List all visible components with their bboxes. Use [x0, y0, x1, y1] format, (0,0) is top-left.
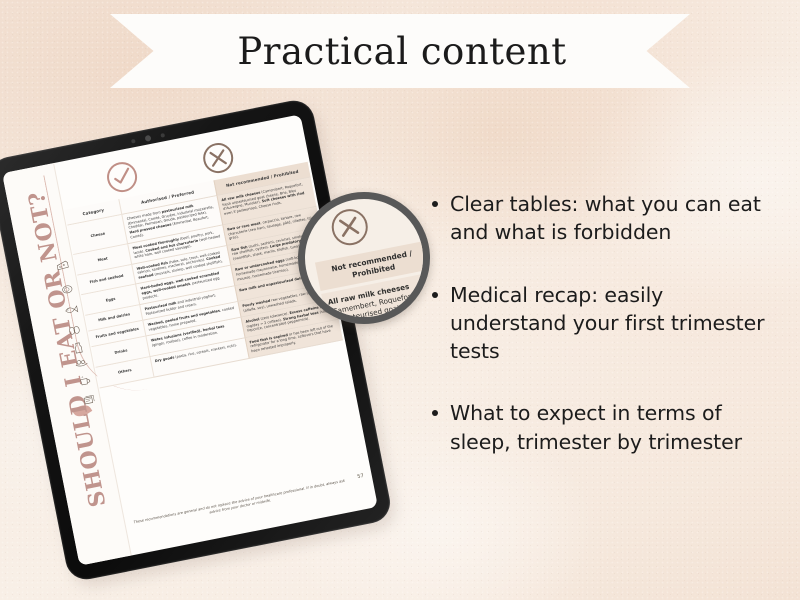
cross-circle-icon: [201, 140, 236, 175]
table-footer-note: These recommendations are general and do…: [128, 478, 352, 531]
bullet-item: What to expect in terms of sleep, trimes…: [432, 399, 784, 456]
bullet-item: Medical recap: easily understand your fi…: [432, 281, 784, 366]
tablet-screen: SHOULD I EAT OR NOT?: [2, 114, 378, 565]
page-number: 57: [357, 473, 364, 480]
bullet-list: Clear tables: what you can eat and what …: [432, 190, 784, 456]
slide-canvas: Practical content SHOULD I EAT OR NOT?: [0, 0, 800, 600]
camera-dot-icon: [131, 139, 136, 144]
bullet-item: Clear tables: what you can eat and what …: [432, 190, 784, 247]
cross-circle-icon: [329, 206, 371, 248]
camera-lens-icon: [145, 135, 152, 142]
title-ribbon: Practical content: [110, 14, 690, 88]
bullet-text: What to expect in terms of sleep, trimes…: [450, 399, 784, 456]
check-circle-icon: [104, 159, 139, 194]
bullet-dot-icon: [432, 201, 438, 207]
magnifier-lens: Not recommended / Prohibited All raw mil…: [298, 192, 430, 324]
page-title: Practical content: [237, 30, 566, 73]
bullet-text: Clear tables: what you can eat and what …: [450, 190, 784, 247]
bullet-dot-icon: [432, 292, 438, 298]
bullet-text: Medical recap: easily understand your fi…: [450, 281, 784, 366]
bullet-dot-icon: [432, 410, 438, 416]
magnifier-content: Not recommended / Prohibited All raw mil…: [298, 192, 430, 324]
sensor-dot-icon: [160, 133, 165, 138]
